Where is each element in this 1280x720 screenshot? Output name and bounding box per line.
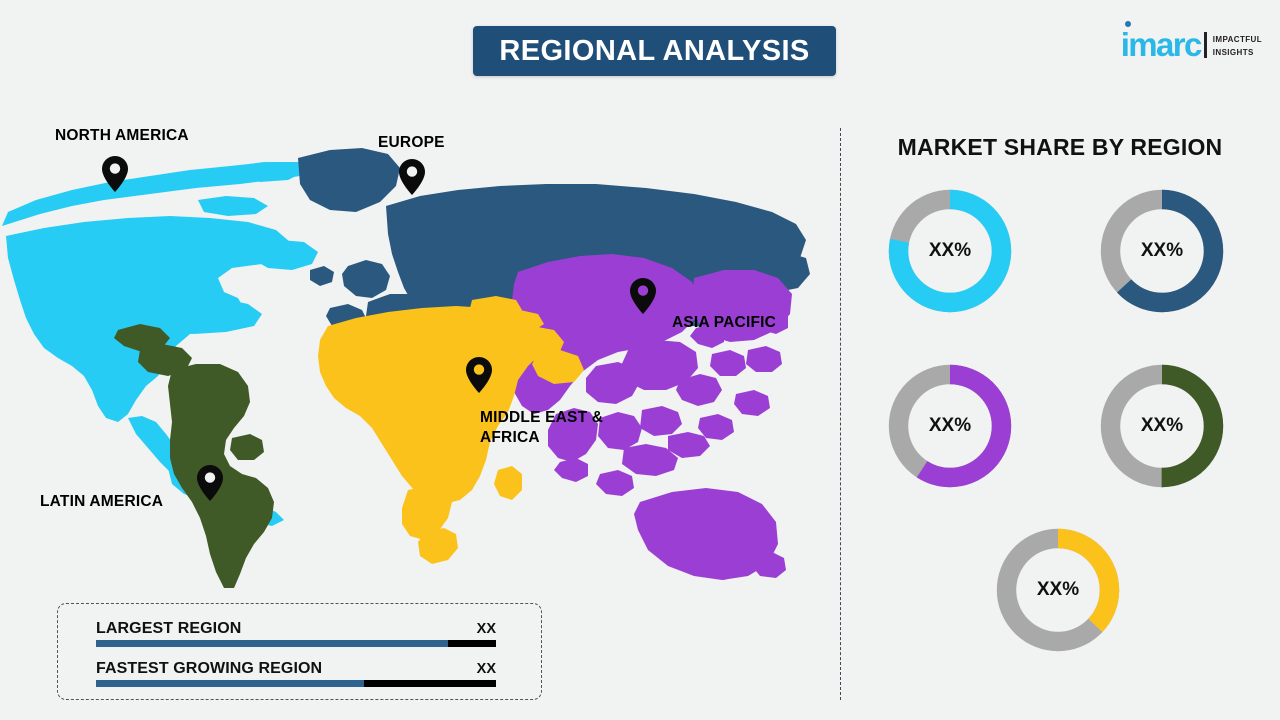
region-summary-box: LARGEST REGION XX FASTEST GROWING REGION… (57, 603, 542, 700)
legend-row-fastest-growing-region: FASTEST GROWING REGION XX (96, 660, 496, 687)
map-pin-europe-icon[interactable] (399, 159, 425, 195)
donut-value-middle-east-africa: XX% (990, 522, 1126, 658)
legend-bar-track-largest-region (96, 640, 496, 647)
logo-wordmark: imarc (1121, 30, 1201, 60)
legend-bar-track-fastest-growing-region (96, 680, 496, 687)
map-pin-middle-east-africa-icon[interactable] (466, 357, 492, 393)
map-pin-latin-america-icon[interactable] (197, 465, 223, 501)
logo-tagline: IMPACTFUL INSIGHTS (1213, 34, 1262, 60)
map-label-north-america: NORTH AMERICA (55, 126, 189, 146)
legend-value-largest-region: XX (477, 621, 496, 637)
logo-tagline-line1: IMPACTFUL (1213, 34, 1262, 45)
donut-chart-middle-east-africa: XX% (990, 522, 1126, 658)
map-region-greenland (298, 148, 400, 212)
map-label-latin-america: LATIN AMERICA (40, 492, 163, 512)
map-label-europe: EUROPE (378, 133, 445, 153)
legend-row-header: LARGEST REGION XX (96, 620, 496, 638)
donut-chart-north-america: XX% (882, 183, 1018, 319)
panel-title-market-share: MARKET SHARE BY REGION (840, 134, 1280, 161)
legend-label-fastest-growing-region: FASTEST GROWING REGION (96, 660, 322, 678)
donut-value-latin-america: XX% (1094, 358, 1230, 494)
legend-bar-fill-fastest-growing-region (96, 680, 364, 687)
legend-label-largest-region: LARGEST REGION (96, 620, 241, 638)
panel-divider (840, 128, 841, 700)
donut-chart-asia-pacific: XX% (882, 358, 1018, 494)
map-label-asia-pacific: ASIA PACIFIC (672, 313, 776, 333)
map-pin-asia-pacific-icon[interactable] (630, 278, 656, 314)
page-title: REGIONAL ANALYSIS (499, 35, 809, 68)
donut-chart-latin-america: XX% (1094, 358, 1230, 494)
donut-value-europe: XX% (1094, 183, 1230, 319)
legend-row-largest-region: LARGEST REGION XX (96, 620, 496, 647)
donut-value-asia-pacific: XX% (882, 358, 1018, 494)
legend-bar-fill-largest-region (96, 640, 448, 647)
logo-dot-icon (1125, 21, 1131, 27)
infographic-canvas: REGIONAL ANALYSIS imarc IMPACTFUL INSIGH… (0, 0, 1280, 720)
imarc-logo: imarc IMPACTFUL INSIGHTS (1121, 20, 1262, 60)
donut-value-north-america: XX% (882, 183, 1018, 319)
logo-tagline-line2: INSIGHTS (1213, 47, 1262, 58)
legend-row-header: FASTEST GROWING REGION XX (96, 660, 496, 678)
map-pin-north-america-icon[interactable] (102, 156, 128, 192)
map-label-middle-east-africa: MIDDLE EAST & AFRICA (480, 408, 603, 448)
legend-value-fastest-growing-region: XX (477, 661, 496, 677)
logo-divider-bar (1204, 32, 1207, 58)
page-title-banner: REGIONAL ANALYSIS (473, 26, 836, 76)
donut-chart-europe: XX% (1094, 183, 1230, 319)
logo-wordmark-text: imarc (1121, 26, 1201, 63)
